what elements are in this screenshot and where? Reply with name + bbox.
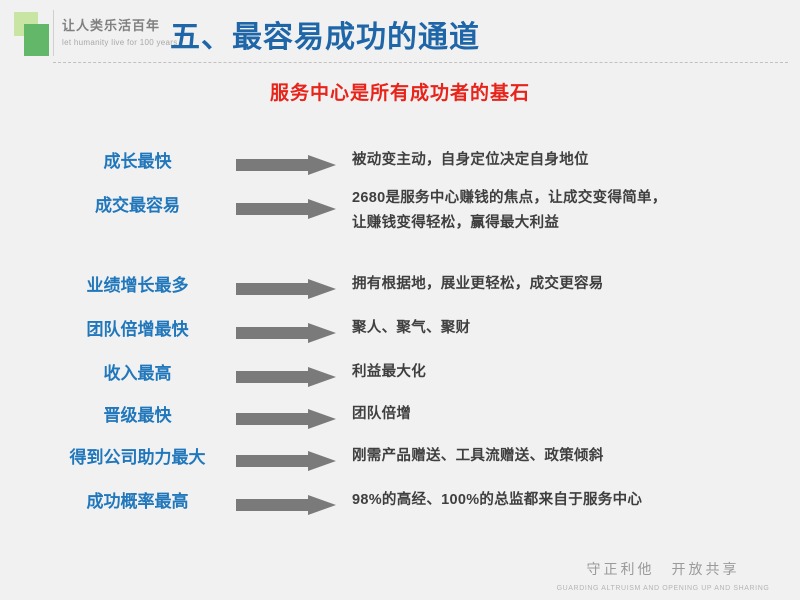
right-arrow-icon: [236, 279, 336, 299]
right-arrow-icon: [236, 495, 336, 515]
right-arrow-icon: [236, 323, 336, 343]
benefit-label: 业绩增长最多: [40, 274, 235, 298]
right-arrow-icon: [236, 367, 336, 387]
header-divider: [53, 62, 788, 63]
right-arrow-icon: [236, 155, 336, 175]
benefit-description: 刚需产品赠送、工具流赠送、政策倾斜: [352, 444, 790, 469]
right-arrow-icon: [236, 409, 336, 429]
benefit-description: 98%的高经、100%的总监都来自于服务中心: [352, 488, 790, 513]
right-arrow-icon: [236, 451, 336, 471]
benefit-description-line1: 拥有根据地，展业更轻松，成交更容易: [352, 276, 604, 292]
list-item: 得到公司助力最大 刚需产品赠送、工具流赠送、政策倾斜: [0, 438, 800, 478]
slide-footer: 守正利他 开放共享 GUARDING ALTRUISM AND OPENING …: [548, 559, 778, 592]
benefit-description-line1: 2680是服务中心赚钱的焦点，让成交变得简单，: [352, 190, 667, 206]
list-item: 成功概率最高 98%的高经、100%的总监都来自于服务中心: [0, 482, 800, 522]
list-item: 收入最高 利益最大化: [0, 354, 800, 394]
brand-slogan-cn: 让人类乐活百年: [62, 15, 160, 34]
list-item: 晋级最快 团队倍增: [0, 396, 800, 436]
slide-subtitle: 服务中心是所有成功者的基石: [0, 78, 800, 105]
benefit-label: 得到公司助力最大: [40, 446, 235, 470]
footer-slogan-en: GUARDING ALTRUISM AND OPENING UP AND SHA…: [548, 585, 778, 592]
right-arrow-icon: [236, 199, 336, 219]
benefit-description: 被动变主动，自身定位决定自身地位: [352, 148, 790, 173]
brand-slogan-en: let humanity live for 100 years: [62, 38, 178, 47]
list-item: 业绩增长最多 拥有根据地，展业更轻松，成交更容易: [0, 266, 800, 306]
benefit-label: 成交最容易: [40, 194, 235, 218]
benefit-label: 成长最快: [40, 150, 235, 174]
benefit-description-line1: 利益最大化: [352, 364, 426, 380]
benefit-description: 利益最大化: [352, 360, 790, 385]
benefit-description: 团队倍增: [352, 402, 790, 427]
benefit-description: 聚人、聚气、聚财: [352, 316, 790, 341]
benefit-label: 收入最高: [40, 362, 235, 386]
list-item: 成长最快 被动变主动，自身定位决定自身地位: [0, 142, 800, 182]
logo-square-dark-icon: [24, 24, 49, 56]
benefit-description-line1: 刚需产品赠送、工具流赠送、政策倾斜: [352, 448, 604, 464]
benefit-description-line1: 团队倍增: [352, 406, 411, 422]
benefit-description-line1: 98%的高经、100%的总监都来自于服务中心: [352, 492, 642, 508]
company-logo: [14, 12, 54, 56]
benefit-label: 成功概率最高: [40, 490, 235, 514]
logo-divider: [53, 10, 54, 56]
slide-header: 让人类乐活百年 let humanity live for 100 years …: [0, 0, 800, 68]
list-item: 团队倍增最快 聚人、聚气、聚财: [0, 310, 800, 350]
benefit-label: 团队倍增最快: [40, 318, 235, 342]
benefit-description: 拥有根据地，展业更轻松，成交更容易: [352, 272, 790, 297]
benefit-description-line1: 被动变主动，自身定位决定自身地位: [352, 152, 589, 168]
benefit-label: 晋级最快: [40, 404, 235, 428]
benefit-description-line1: 聚人、聚气、聚财: [352, 320, 470, 336]
benefit-description: 2680是服务中心赚钱的焦点，让成交变得简单， 让赚钱变得轻松，赢得最大利益: [352, 186, 790, 236]
footer-slogan-cn: 守正利他 开放共享: [548, 559, 778, 579]
list-item: 成交最容易 2680是服务中心赚钱的焦点，让成交变得简单， 让赚钱变得轻松，赢得…: [0, 186, 800, 226]
page-title: 五、最容易成功的通道: [170, 12, 480, 56]
benefit-description-line2: 让赚钱变得轻松，赢得最大利益: [352, 211, 790, 236]
